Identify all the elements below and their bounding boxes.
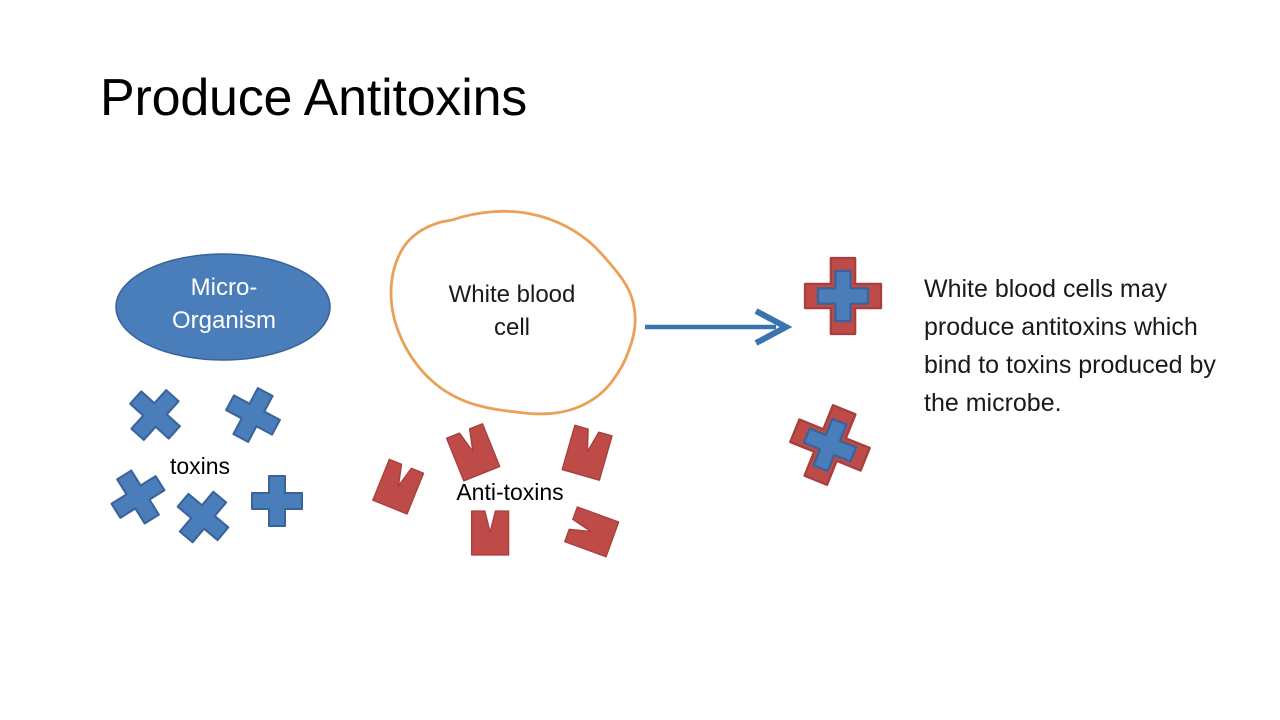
white-blood-cell-label-line1: White blood bbox=[398, 278, 626, 311]
antitoxins-label: Anti-toxins bbox=[420, 478, 600, 506]
bound-antitoxin-toxin-complex-icon bbox=[781, 396, 880, 495]
bound-complexes-group bbox=[781, 258, 881, 494]
microorganism-label-line2: Organism bbox=[118, 304, 330, 337]
description-text: White blood cells may produce antitoxins… bbox=[924, 270, 1224, 422]
microorganism-label: Micro- Organism bbox=[118, 271, 330, 337]
bound-antitoxin-toxin-complex-icon bbox=[805, 258, 881, 334]
antitoxin-fork-icon bbox=[562, 425, 612, 480]
antitoxin-fork-icon bbox=[565, 507, 619, 557]
toxin-cross-icon bbox=[252, 476, 302, 526]
white-blood-cell-label: White blood cell bbox=[398, 278, 626, 344]
microorganism-label-line1: Micro- bbox=[118, 271, 330, 304]
antitoxin-fork-icon bbox=[472, 511, 509, 555]
toxins-label: toxins bbox=[130, 452, 270, 480]
right-arrow-icon bbox=[645, 311, 786, 343]
toxin-cross-icon bbox=[218, 380, 288, 450]
antitoxin-fork-icon bbox=[447, 424, 500, 481]
toxin-cross-icon bbox=[166, 480, 239, 553]
toxin-cross-icon bbox=[118, 378, 191, 451]
white-blood-cell-label-line2: cell bbox=[398, 311, 626, 344]
antitoxin-fork-icon bbox=[373, 459, 424, 514]
slide-canvas: Produce Antitoxins bbox=[0, 0, 1280, 720]
